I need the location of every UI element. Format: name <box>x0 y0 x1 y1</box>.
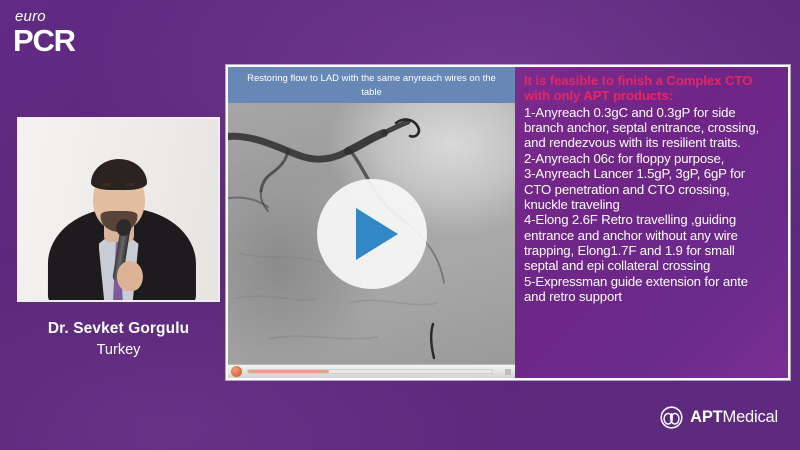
slide-body-line: branch anchor, septal entrance, crossing… <box>524 120 779 135</box>
slide-caption: Restoring flow to LAD with the same anyr… <box>228 67 515 103</box>
presentation-stage: euro PCR Dr. Sevket Gorgulu Turkey Resto… <box>0 0 800 450</box>
slide-body-line: 3-Anyreach Lancer 1.5gP, 3gP, 6gP for <box>524 166 779 181</box>
slide-title: It is feasible to finish a Complex CTO w… <box>524 73 779 104</box>
slide-text-panel: It is feasible to finish a Complex CTO w… <box>515 67 788 378</box>
slide-body-line: 2-Anyreach 06c for floppy purpose, <box>524 151 779 166</box>
speaker-eye-right <box>126 183 135 186</box>
video-scrollbar[interactable] <box>228 364 515 378</box>
play-icon <box>356 208 398 260</box>
slide-body-line: and retro support <box>524 289 779 304</box>
speaker-country: Turkey <box>17 342 220 358</box>
slide-body: 1-Anyreach 0.3gC and 0.3gP for sidebranc… <box>524 105 779 305</box>
scroll-endcap-icon[interactable] <box>505 369 511 375</box>
slide-body-line: 4-Elong 2.6F Retro travelling ,guiding <box>524 212 779 227</box>
slide-body-line: CTO penetration and CTO crossing, <box>524 182 779 197</box>
europcr-logo: euro PCR <box>13 9 75 56</box>
slide-body-line: 5-Expressman guide extension for ante <box>524 274 779 289</box>
logo-pcr-text: PCR <box>13 25 75 56</box>
angiogram-image <box>228 103 515 364</box>
slide-body-line: 1-Anyreach 0.3gC and 0.3gP for side <box>524 105 779 120</box>
scroll-knob-icon[interactable] <box>231 366 242 377</box>
slide-body-line: and rendezvous with its resilient traits… <box>524 135 779 150</box>
slide-frame: Restoring flow to LAD with the same anyr… <box>226 65 790 380</box>
apt-name-light: Medical <box>723 408 778 426</box>
slide-body-line: trapping, Elong1.7F and 1.9 for small <box>524 243 779 258</box>
slide-body-line: septal and epi collateral crossing <box>524 258 779 273</box>
speaker-eye-left <box>102 183 111 186</box>
apt-medical-logo: APTMedical <box>660 406 778 429</box>
speaker-hand <box>116 261 142 291</box>
slide-image-column: Restoring flow to LAD with the same anyr… <box>228 67 515 378</box>
speaker-video[interactable] <box>17 117 220 302</box>
slide-body-line: entrance and anchor without any wire <box>524 228 779 243</box>
speaker-panel: Dr. Sevket Gorgulu Turkey <box>17 117 220 357</box>
play-button[interactable] <box>317 179 427 289</box>
apt-medical-wordmark: APTMedical <box>690 409 778 426</box>
apt-emblem-icon <box>660 406 683 429</box>
speaker-name: Dr. Sevket Gorgulu <box>17 320 220 338</box>
apt-name-bold: APT <box>690 408 722 426</box>
scroll-progress <box>248 370 329 373</box>
logo-euro-text: euro <box>15 9 75 24</box>
scroll-track[interactable] <box>247 369 493 374</box>
slide-body-line: knuckle traveling <box>524 197 779 212</box>
